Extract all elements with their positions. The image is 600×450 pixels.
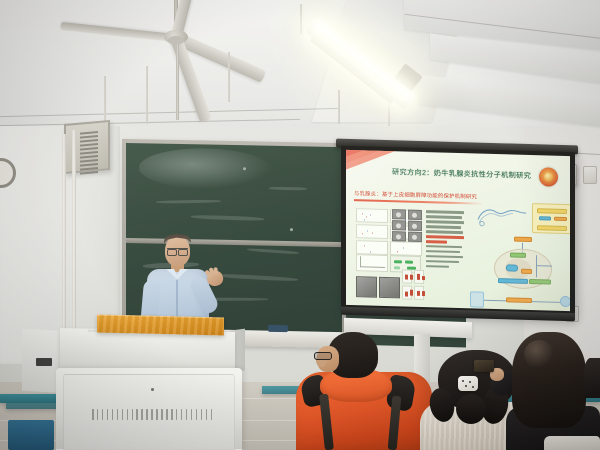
blot-lane	[414, 270, 424, 284]
signaling-pathway-diagram	[474, 205, 570, 311]
microscopy-image	[392, 231, 406, 241]
blackboard-eraser[interactable]	[268, 325, 288, 332]
microscopy-image	[408, 221, 422, 231]
blot-lane	[414, 286, 424, 300]
wall-sensor	[583, 166, 597, 184]
microscopy-image-group	[392, 209, 422, 241]
ceiling-beam	[418, 74, 600, 127]
smartphone[interactable]	[474, 360, 494, 372]
gene-label-box	[529, 279, 551, 285]
ceiling-seam	[0, 119, 300, 126]
eyeglasses	[314, 352, 332, 360]
white-garment	[544, 436, 600, 450]
gene-label-box	[510, 252, 526, 257]
gene-label-box	[498, 278, 528, 284]
ventilation-slots	[92, 408, 212, 420]
microscopy-image	[408, 232, 422, 242]
line-chart-thumbnail	[356, 254, 388, 272]
hair-highlight	[524, 340, 554, 368]
podium-indicator-light	[151, 388, 154, 391]
protein-node	[521, 269, 532, 274]
ceiling-seam	[0, 108, 340, 117]
slide-body-text	[426, 210, 464, 271]
eyeglasses	[167, 248, 188, 253]
slide-title: 研究方向2：奶牛乳腺炎抗性分子机制研究	[392, 167, 542, 181]
slide-corner-banner	[346, 150, 397, 178]
speaker-grill	[80, 131, 98, 167]
microscopy-image	[408, 210, 422, 220]
projection-screen: 研究方向2：奶牛乳腺炎抗性分子机制研究 与乳腺炎：基于上皮细胞屏障功能的保护机制…	[341, 146, 575, 319]
hanger-rod	[104, 76, 106, 124]
hanger-rod	[228, 52, 230, 102]
microscopy-image	[392, 220, 406, 230]
blot-image	[356, 276, 377, 298]
lecture-podium-top	[97, 314, 224, 335]
student-orange-jacket	[296, 332, 432, 450]
university-emblem	[539, 167, 558, 187]
dna-strand	[476, 204, 528, 231]
wall-speaker	[64, 120, 110, 174]
hair-clip	[458, 376, 478, 391]
blot-lane	[402, 285, 412, 299]
scatter-plot-thumbnail	[356, 240, 388, 255]
hanger-rod	[300, 4, 302, 34]
scatter-plot-thumbnail	[356, 208, 388, 223]
classroom-photo: 研究方向2：奶牛乳腺炎抗性分子机制研究 与乳腺炎：基于上皮细胞屏障功能的保护机制…	[0, 0, 600, 450]
gene-label-box	[506, 297, 532, 303]
membrane-receptor	[560, 296, 570, 307]
microscopy-image	[392, 209, 406, 219]
hair-strand	[456, 394, 486, 424]
chalkboard-glare	[139, 147, 273, 190]
gene-label-box	[532, 203, 570, 234]
scatter-plot-thumbnail	[356, 224, 388, 239]
protein-node	[506, 264, 518, 271]
student-partial-edge	[584, 358, 600, 398]
membrane-receptor	[470, 291, 484, 307]
fan-downrod	[176, 44, 179, 120]
experimental-figures-panel	[356, 208, 422, 256]
presentation-slide: 研究方向2：奶牛乳腺炎抗性分子机制研究 与乳腺炎：基于上皮细胞屏障功能的保护机制…	[346, 150, 570, 311]
student-chair	[8, 420, 54, 450]
blot-image	[379, 277, 400, 299]
western-blot-lanes	[402, 269, 424, 300]
scatter-plot-thumbnail	[390, 241, 422, 256]
blot-lane	[402, 269, 412, 283]
hanger-rod	[146, 66, 148, 124]
receptor-complex	[514, 237, 532, 243]
av-control-box[interactable]	[36, 358, 52, 366]
